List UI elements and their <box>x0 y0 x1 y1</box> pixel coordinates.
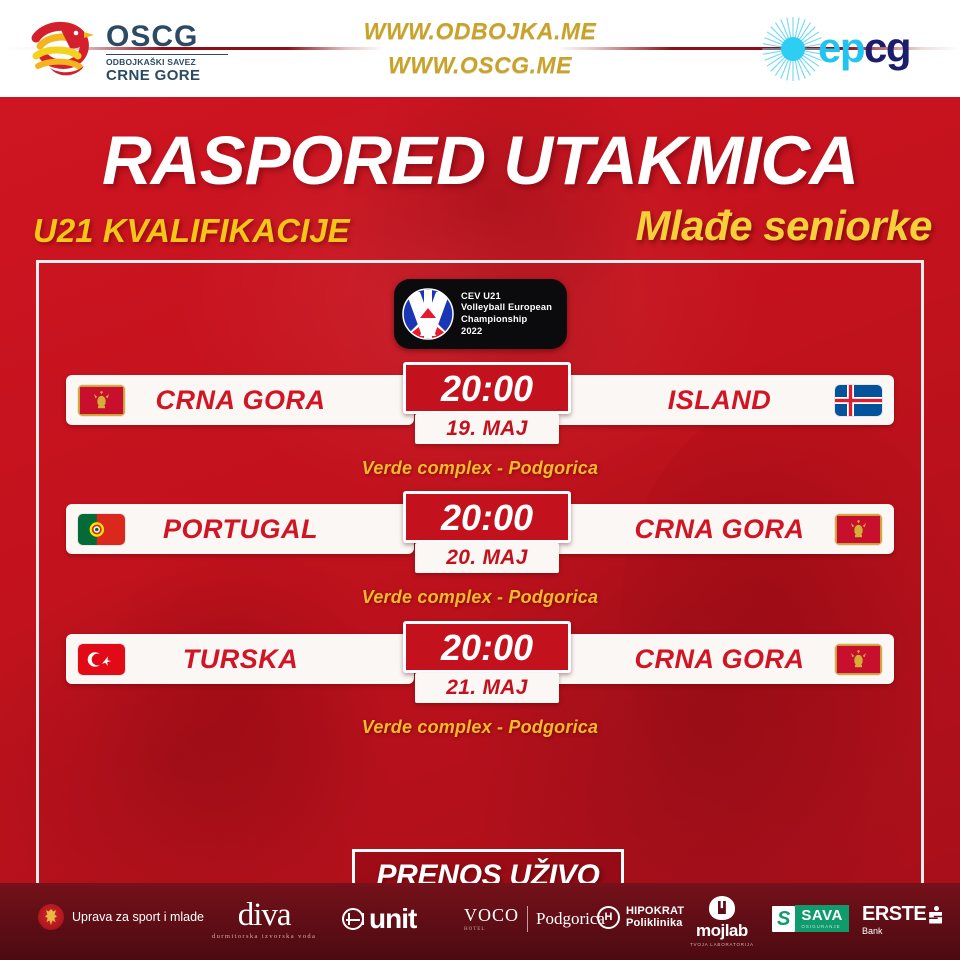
sponsor-diva: diva durmitorska izvorska voda <box>212 899 316 940</box>
home-team-name: PORTUGAL <box>125 514 356 545</box>
match-time-block: 20:00 21. MAJ <box>403 621 571 703</box>
portugal-flag-icon <box>78 514 125 545</box>
sava-mark-icon: S <box>772 906 795 932</box>
oscg-initials: OSCG <box>106 22 228 52</box>
sponsor-uprava: Uprava za sport i mlade <box>38 904 204 930</box>
oscg-subtitle-1: ODBOJKAŠKI SAVEZ <box>106 54 228 68</box>
epcg-cg-text: cg <box>864 24 910 71</box>
sponsor-mojlab-label: mojlab <box>696 921 748 941</box>
oscg-logo: OSCG ODBOJKAŠKI SAVEZ CRNE GORE <box>26 10 236 88</box>
match-time: 20:00 <box>403 362 571 414</box>
match-time-block: 20:00 20. MAJ <box>403 491 571 573</box>
away-team-bar[interactable]: CRNA GORA <box>546 504 894 554</box>
sponsor-voco-city: Podgorica <box>536 909 605 929</box>
sponsor-hipokrat-text: HIPOKRAT Poliklinika <box>626 905 684 929</box>
erste-s-mark-icon <box>929 906 942 924</box>
page-header: OSCG ODBOJKAŠKI SAVEZ CRNE GORE WWW.ODBO… <box>0 0 960 97</box>
epcg-ep-text: ep <box>818 24 864 71</box>
sponsor-sava-tagline: OSIGURANJE <box>801 924 842 929</box>
home-team-name: TURSKA <box>125 644 356 675</box>
cev-line-2: Volleyball European <box>461 302 552 314</box>
montenegro-coat-of-arms-icon <box>38 904 64 930</box>
sponsor-erste-label: ERSTE <box>862 904 926 925</box>
turkey-flag-icon <box>78 644 125 675</box>
away-team-name: CRNA GORA <box>604 644 835 675</box>
sponsor-hipokrat-label: HIPOKRAT <box>626 905 684 917</box>
sponsor-hipokrat-sublabel: Poliklinika <box>626 917 684 929</box>
sponsor-diva-label: diva <box>238 899 291 932</box>
sponsor-diva-tagline: durmitorska izvorska voda <box>212 933 316 940</box>
cev-championship-badge: CEV U21 Volleyball European Championship… <box>394 279 567 349</box>
poster-body: RASPORED UTAKMICA U21 KVALIFIKACIJE Mlađ… <box>0 97 960 883</box>
away-team-name: CRNA GORA <box>604 514 835 545</box>
montenegro-flag-icon <box>78 385 125 416</box>
match-time-block: 20:00 19. MAJ <box>403 362 571 444</box>
match-time: 20:00 <box>403 621 571 673</box>
sponsor-hipokrat: H HIPOKRAT Poliklinika <box>597 905 684 929</box>
away-team-name: ISLAND <box>604 385 835 416</box>
iceland-flag-icon <box>835 385 882 416</box>
epcg-sunburst-icon <box>760 16 826 82</box>
cev-line-4: 2022 <box>461 326 552 338</box>
sponsor-mojlab: mojlab TVOJA LABORATORIJA <box>690 896 754 947</box>
sponsor-unit-label: unit <box>369 905 416 933</box>
epcg-sponsor-logo: epcg <box>760 14 945 84</box>
home-team-bar[interactable]: CRNA GORA <box>66 375 414 425</box>
voco-divider <box>527 906 528 932</box>
cev-line-3: Championship <box>461 314 552 326</box>
oscg-eagle-icon <box>26 12 100 86</box>
sponsor-voco-label: VOCOHOTEL <box>464 905 519 932</box>
subtitle-team: Mlađe seniorke <box>636 202 932 250</box>
sava-wordmark: SAVA OSIGURANJE <box>795 905 848 932</box>
header-urls: WWW.ODBOJKA.ME WWW.OSCG.ME <box>280 14 680 82</box>
match-date: 20. MAJ <box>415 543 559 573</box>
match-time: 20:00 <box>403 491 571 543</box>
match-date: 21. MAJ <box>415 673 559 703</box>
sponsor-footer: Uprava za sport i mlade diva durmitorska… <box>0 883 960 960</box>
sponsor-sava-label: SAVA <box>801 908 842 924</box>
page-title: RASPORED UTAKMICA <box>0 125 960 197</box>
sponsor-voco-tagline: HOTEL <box>464 927 519 932</box>
unit-mark-icon <box>342 908 364 930</box>
match-venue: Verde complex - Podgorica <box>0 587 960 608</box>
away-team-bar[interactable]: ISLAND <box>546 375 894 425</box>
match-venue: Verde complex - Podgorica <box>0 458 960 479</box>
oscg-wordmark: OSCG ODBOJKAŠKI SAVEZ CRNE GORE <box>106 22 228 84</box>
mojlab-mark-icon <box>709 896 735 920</box>
sava-letter: S <box>777 909 790 929</box>
away-team-bar[interactable]: CRNA GORA <box>546 634 894 684</box>
cev-badge-text: CEV U21 Volleyball European Championship… <box>461 291 552 337</box>
live-broadcast-box: PRENOS UŽIVO MNE SPORT 1 2 3 <box>352 849 624 883</box>
url-oscg[interactable]: WWW.OSCG.ME <box>280 48 680 82</box>
montenegro-flag-icon <box>835 644 882 675</box>
home-team-name: CRNA GORA <box>125 385 356 416</box>
cev-line-1: CEV U21 <box>461 291 552 303</box>
sponsor-erste: ERSTE Bank <box>862 904 942 936</box>
epcg-wordmark: epcg <box>818 26 910 70</box>
home-team-bar[interactable]: PORTUGAL <box>66 504 414 554</box>
subtitle-category: U21 KVALIFIKACIJE <box>33 212 350 250</box>
sponsor-unit: unit <box>342 905 416 933</box>
home-team-bar[interactable]: TURSKA <box>66 634 414 684</box>
hipokrat-mark-icon: H <box>597 906 620 929</box>
erste-top-row: ERSTE <box>862 904 942 925</box>
live-broadcast-title: PRENOS UŽIVO <box>376 859 599 884</box>
sponsor-mojlab-tagline: TVOJA LABORATORIJA <box>690 942 754 947</box>
sponsor-voco: VOCOHOTEL Podgorica <box>464 905 605 932</box>
sponsor-erste-sublabel: Bank <box>862 926 883 936</box>
sponsor-uprava-label: Uprava za sport i mlade <box>72 911 204 924</box>
cev-logo-icon <box>402 288 454 340</box>
sponsor-sava: S SAVA OSIGURANJE <box>772 905 849 932</box>
oscg-subtitle-2: CRNE GORE <box>106 68 228 84</box>
montenegro-flag-icon <box>835 514 882 545</box>
match-venue: Verde complex - Podgorica <box>0 717 960 738</box>
url-odbojka[interactable]: WWW.ODBOJKA.ME <box>280 14 680 48</box>
match-date: 19. MAJ <box>415 414 559 444</box>
